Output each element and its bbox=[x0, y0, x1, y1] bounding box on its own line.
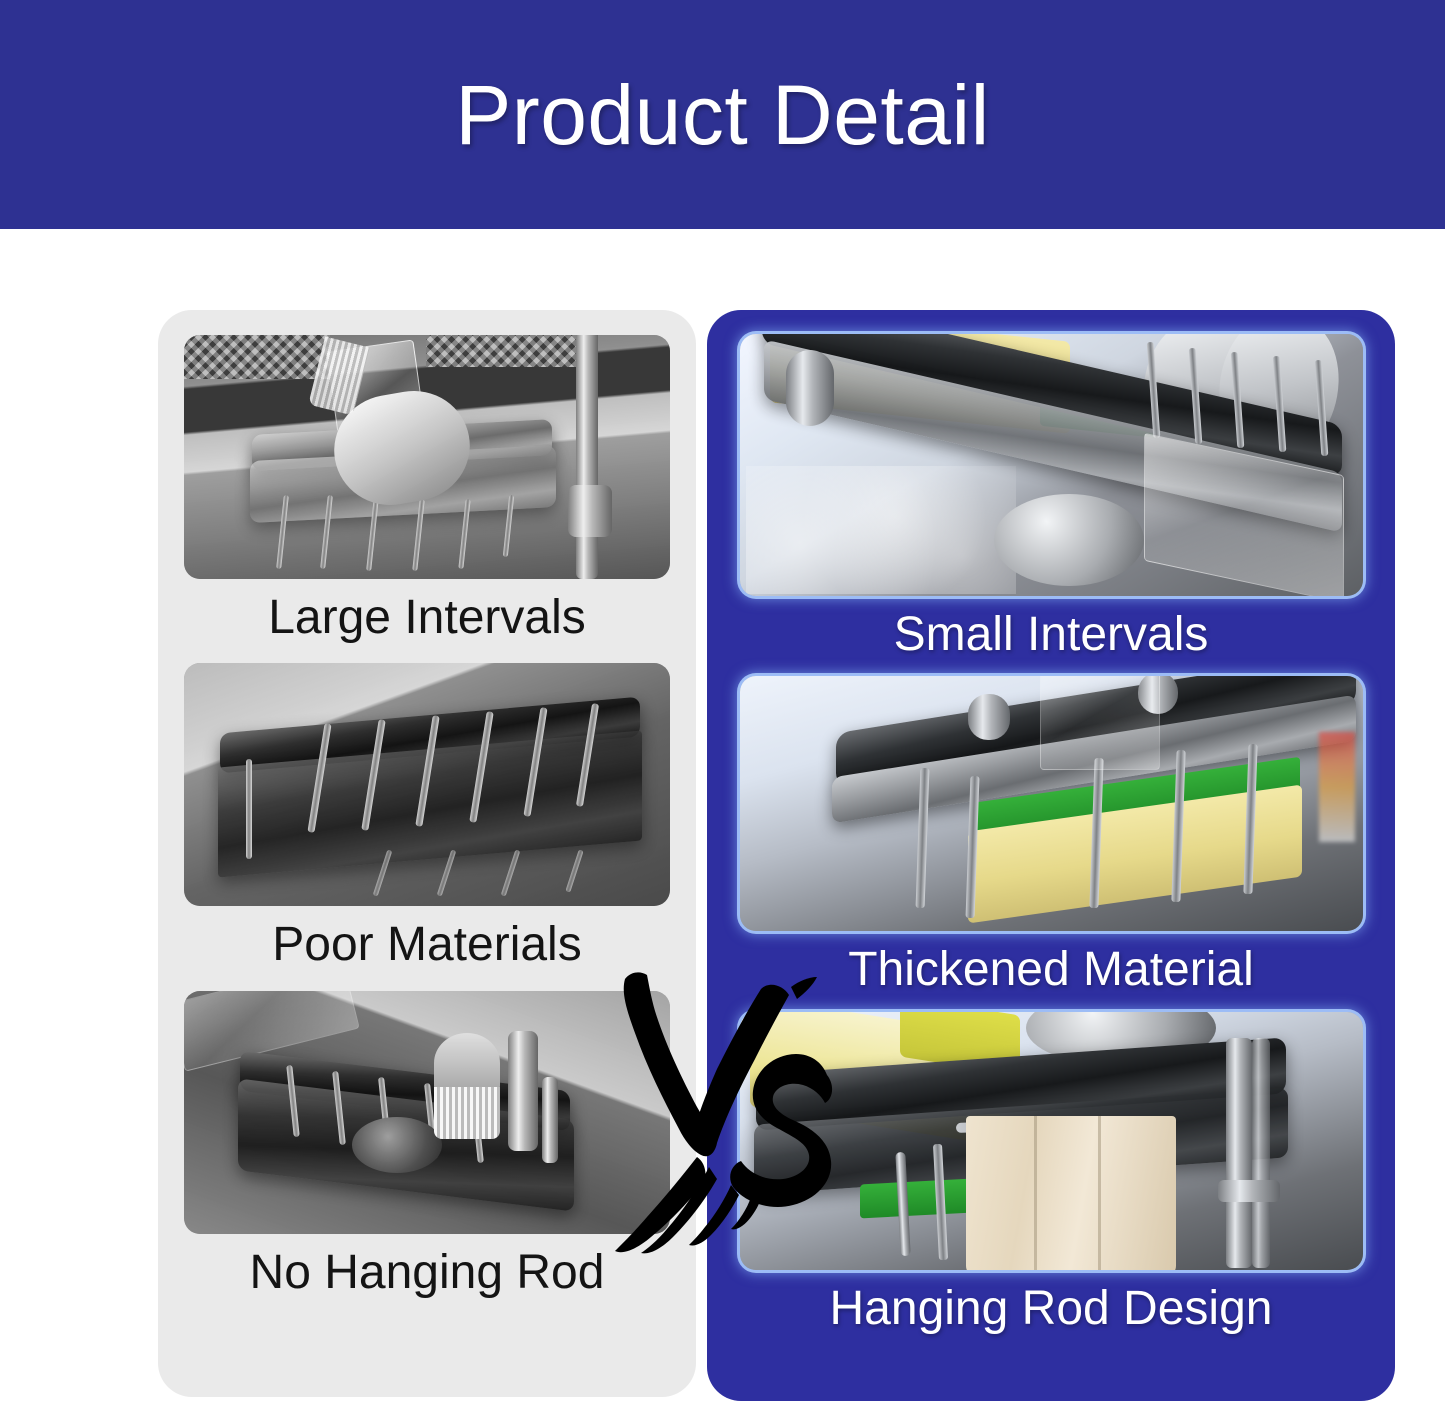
photo-thickened-material bbox=[740, 676, 1363, 931]
comparison-cell-thickened-material: Thickened Material bbox=[740, 676, 1363, 1011]
page-title: Product Detail bbox=[455, 73, 990, 157]
comparison-cell-hanging-rod-design: Hanging Rod Design bbox=[740, 1012, 1363, 1350]
comparison-cell-poor-materials: Poor Materials bbox=[184, 663, 670, 984]
negative-column: Large Intervals Poor Materials bbox=[158, 310, 696, 1397]
photo-small-intervals bbox=[740, 334, 1363, 596]
label-poor-materials: Poor Materials bbox=[272, 920, 581, 970]
comparison-cell-large-intervals: Large Intervals bbox=[184, 335, 670, 657]
comparison-cell-no-hanging-rod: No Hanging Rod bbox=[184, 991, 670, 1312]
photo-poor-materials bbox=[184, 663, 670, 906]
label-large-intervals: Large Intervals bbox=[268, 593, 586, 643]
label-thickened-material: Thickened Material bbox=[848, 945, 1254, 995]
header-banner: Product Detail bbox=[0, 0, 1445, 229]
label-hanging-rod-design: Hanging Rod Design bbox=[830, 1284, 1273, 1334]
positive-column: Small Intervals Thickened Material bbox=[707, 310, 1395, 1401]
comparison-cell-small-intervals: Small Intervals bbox=[740, 334, 1363, 676]
comparison-section: Large Intervals Poor Materials bbox=[0, 229, 1445, 1413]
label-small-intervals: Small Intervals bbox=[894, 610, 1209, 660]
photo-no-hanging-rod bbox=[184, 991, 670, 1234]
label-no-hanging-rod: No Hanging Rod bbox=[250, 1248, 605, 1298]
photo-large-intervals bbox=[184, 335, 670, 579]
photo-hanging-rod-design bbox=[740, 1012, 1363, 1270]
